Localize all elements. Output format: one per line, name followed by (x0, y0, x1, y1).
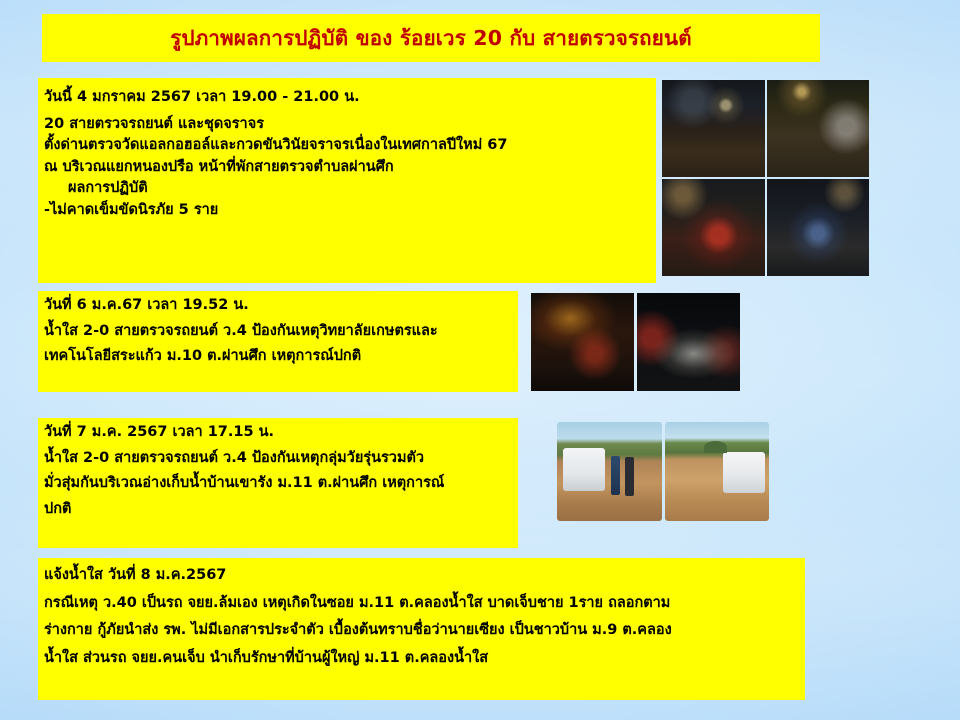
page-title: รูปภาพผลการปฏิบัติ ของ ร้อยเวร 20 กับ สา… (170, 28, 691, 49)
photo-night-pickup-truck-checkpoint (662, 80, 765, 177)
block4-line-4: น้ำใส ส่วนรถ จยย.คนเจ็บ นำเก็บรักษาที่บ้… (44, 651, 672, 666)
block2-line-1: วันที่ 6 ม.ค.67 เวลา 19.52 น. (44, 298, 438, 313)
photo-night-officers-red-pickup (662, 179, 765, 276)
block1-line-1: วันนี้ 4 มกราคม 2567 เวลา 19.00 - 21.00 … (44, 90, 507, 105)
report-block-4-text: แจ้งน้ำใส วันที่ 8 ม.ค.2567 กรณีเหตุ ว.4… (44, 568, 672, 678)
report-block-3-text: วันที่ 7 ม.ค. 2567 เวลา 17.15 น. น้ำใส 2… (44, 425, 444, 527)
block1-line-6: -ไม่คาดเข็มขัดนิรภัย 5 ราย (44, 203, 507, 218)
block1-line-5: ผลการปฏิบัติ (44, 181, 507, 196)
block4-line-2: กรณีเหตุ ว.40 เป็นรถ จยย.ล้มเอง เหตุเกิด… (44, 596, 672, 611)
block2-line-3: เทคโนโลยีสระแก้ว ม.10 ต.ผ่านศึก เหตุการณ… (44, 349, 438, 364)
block3-line-3: มั่วสุ่มกันบริเวณอ่างเก็บน้ำบ้านเขารัง ม… (44, 476, 444, 491)
block3-line-2: น้ำใส 2-0 สายตรวจรถยนต์ ว.4 ป้องกันเหตุก… (44, 451, 444, 466)
block1-line-2: 20 สายตรวจรถยนต์ และชุดจราจร (44, 117, 507, 132)
title-banner: รูปภาพผลการปฏิบัติ ของ ร้อยเวร 20 กับ สา… (42, 14, 820, 62)
block2-line-2: น้ำใส 2-0 สายตรวจรถยนต์ ว.4 ป้องกันเหตุว… (44, 324, 438, 339)
photo-daytime-pickup-truck-dirt-road (665, 422, 770, 521)
report-block-3-photo-grid (557, 422, 769, 521)
block1-line-3: ตั้งด่านตรวจวัดแอลกอฮอล์และกวดขันวินัยจร… (44, 138, 507, 153)
report-block-2-photo-grid (531, 293, 740, 391)
photo-night-officer-at-station-sign (531, 293, 634, 391)
photo-daytime-white-van-dirt-road (557, 422, 662, 521)
block1-line-4: ณ บริเวณแยกหนองปรือ หน้าที่พักสายตรวจตำบ… (44, 160, 507, 175)
report-block-1-photo-grid (662, 80, 869, 276)
block4-line-3: ร่างกาย กู้ภัยนำส่ง รพ. ไม่มีเอกสารประจำ… (44, 623, 672, 638)
block3-line-4: ปกติ (44, 502, 444, 517)
block4-line-1: แจ้งน้ำใส วันที่ 8 ม.ค.2567 (44, 568, 672, 583)
photo-night-patrol-car-headlights (637, 293, 740, 391)
photo-night-officers-motorcycle-stop (767, 179, 870, 276)
photo-night-officers-white-car-stop (767, 80, 870, 177)
block3-line-1: วันที่ 7 ม.ค. 2567 เวลา 17.15 น. (44, 425, 444, 440)
report-block-1-text: วันนี้ 4 มกราคม 2567 เวลา 19.00 - 21.00 … (44, 90, 507, 229)
report-block-2-text: วันที่ 6 ม.ค.67 เวลา 19.52 น. น้ำใส 2-0 … (44, 298, 438, 375)
slide-canvas: รูปภาพผลการปฏิบัติ ของ ร้อยเวร 20 กับ สา… (0, 0, 960, 720)
